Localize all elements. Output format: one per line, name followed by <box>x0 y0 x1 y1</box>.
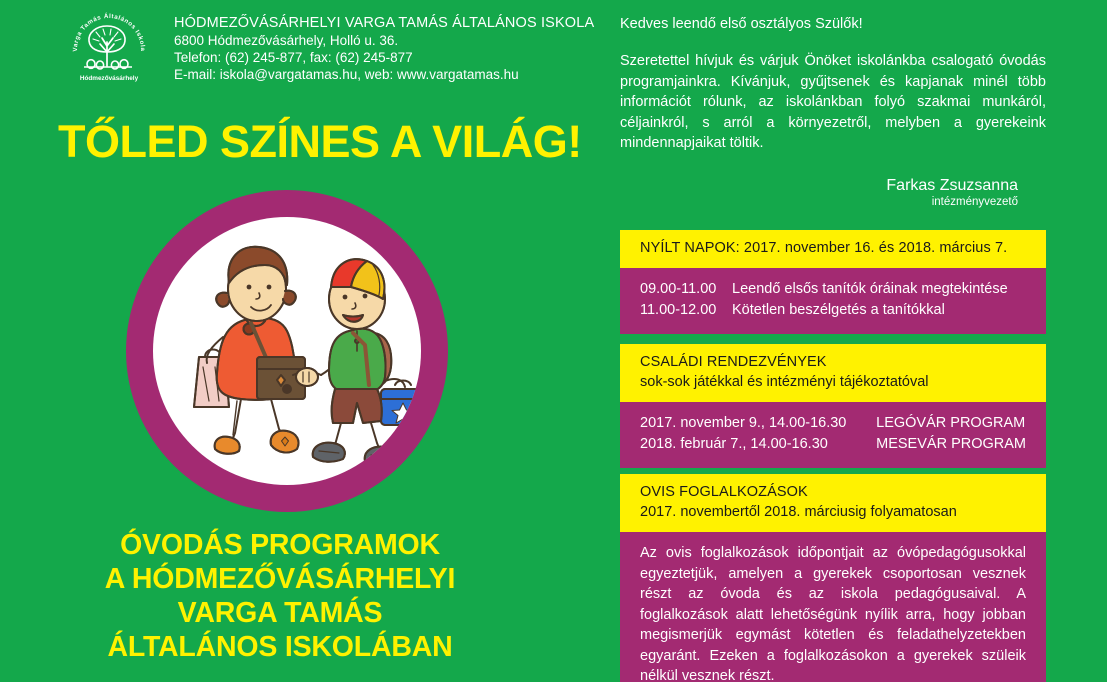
signature-name: Farkas Zsuzsanna <box>620 176 1018 195</box>
intro-body: Szeretettel hívjuk és várjuk Önöket isko… <box>620 51 1046 154</box>
preschool-sessions-subtitle: 2017. novembertől 2018. márciusig folyam… <box>640 502 1026 522</box>
open-days-header: NYÍLT NAPOK: 2017. november 16. és 2018.… <box>620 230 1046 268</box>
school-email: E-mail: iskola@vargatamas.hu, web: www.v… <box>174 66 594 83</box>
signature-block: Farkas Zsuzsanna intézményvezető <box>620 176 1046 210</box>
preschool-sessions-title: OVIS FOGLALKOZÁSOK <box>640 483 1026 502</box>
family-events-subtitle: sok-sok játékkal és intézményi tájékozta… <box>640 372 1026 392</box>
open-days-row: 11.00-12.00Kötetlen beszélgetés a tanító… <box>640 300 1026 321</box>
poster-root: Varga Tamás Általános Iskola Hódmezővásá… <box>0 0 1107 682</box>
programs-title-line-2: A HÓDMEZŐVÁSÁRHELYI <box>0 562 560 596</box>
school-contact-block: HÓDMEZŐVÁSÁRHELYI VARGA TAMÁS ÁLTALÁNOS … <box>174 8 594 83</box>
open-days-time: 09.00-11.00 <box>640 279 732 300</box>
info-box-open-days: NYÍLT NAPOK: 2017. november 16. és 2018.… <box>620 230 1046 334</box>
svg-text:Hódmezővásárhely: Hódmezővásárhely <box>80 75 139 82</box>
school-phone: Telefon: (62) 245-877, fax: (62) 245-877 <box>174 49 594 66</box>
programs-title-line-3: VARGA TAMÁS <box>0 596 560 630</box>
family-events-dates-column: 2017. november 9., 14.00-16.30 2018. feb… <box>640 413 876 455</box>
open-days-header-text: NYÍLT NAPOK: 2017. november 16. és 2018.… <box>640 239 1026 258</box>
family-event-program: LEGÓVÁR PROGRAM <box>876 413 1026 434</box>
family-event-date: 2018. február 7., 14.00-16.30 <box>640 434 876 455</box>
family-event-program: MESEVÁR PROGRAM <box>876 434 1026 455</box>
school-address: 6800 Hódmezővásárhely, Holló u. 36. <box>174 32 594 49</box>
family-events-programs-column: LEGÓVÁR PROGRAM MESEVÁR PROGRAM <box>876 413 1026 455</box>
open-days-body: 09.00-11.00Leendő elsős tanítók óráinak … <box>620 268 1046 334</box>
family-event-date: 2017. november 9., 14.00-16.30 <box>640 413 876 434</box>
preschool-sessions-body: Az ovis foglalkozások időpontjait az óvó… <box>620 532 1046 682</box>
info-box-family-events: CSALÁDI RENDEZVÉNYEK sok-sok játékkal és… <box>620 344 1046 468</box>
intro-letter: Kedves leendő első osztályos Szülők! Sze… <box>620 14 1046 210</box>
two-children-walking-illustration <box>153 217 421 485</box>
programs-title: ÓVODÁS PROGRAMOK A HÓDMEZŐVÁSÁRHELYI VAR… <box>0 528 560 664</box>
preschool-sessions-paragraph: Az ovis foglalkozások időpontjait az óvó… <box>640 543 1026 682</box>
open-days-text: Kötetlen beszélgetés a tanítókkal <box>732 302 945 318</box>
open-days-text: Leendő elsős tanítók óráinak megtekintés… <box>732 281 1008 297</box>
signature-role: intézményvezető <box>620 195 1018 210</box>
open-days-row: 09.00-11.00Leendő elsős tanítók óráinak … <box>640 279 1026 300</box>
intro-greeting: Kedves leendő első osztályos Szülők! <box>620 14 1046 34</box>
header: Varga Tamás Általános Iskola Hódmezővásá… <box>66 8 594 84</box>
school-tree-logo: Varga Tamás Általános Iskola Hódmezővásá… <box>66 8 152 84</box>
family-events-header: CSALÁDI RENDEZVÉNYEK sok-sok játékkal és… <box>620 344 1046 402</box>
school-name: HÓDMEZŐVÁSÁRHELYI VARGA TAMÁS ÁLTALÁNOS … <box>174 14 594 32</box>
family-events-title: CSALÁDI RENDEZVÉNYEK <box>640 353 1026 372</box>
illustration-circle <box>126 190 448 512</box>
programs-title-line-1: ÓVODÁS PROGRAMOK <box>0 528 560 562</box>
open-days-time: 11.00-12.00 <box>640 300 732 321</box>
info-box-preschool-sessions: OVIS FOGLALKOZÁSOK 2017. novembertől 201… <box>620 474 1046 682</box>
illustration-disc <box>153 217 421 485</box>
family-events-body: 2017. november 9., 14.00-16.30 2018. feb… <box>620 402 1046 468</box>
programs-title-line-4: ÁLTALÁNOS ISKOLÁBAN <box>0 630 560 664</box>
poster-headline: TŐLED SZÍNES A VILÁG! <box>58 119 582 164</box>
preschool-sessions-header: OVIS FOGLALKOZÁSOK 2017. novembertől 201… <box>620 474 1046 532</box>
svg-text:Varga Tamás Általános Iskola: Varga Tamás Általános Iskola <box>72 13 146 52</box>
